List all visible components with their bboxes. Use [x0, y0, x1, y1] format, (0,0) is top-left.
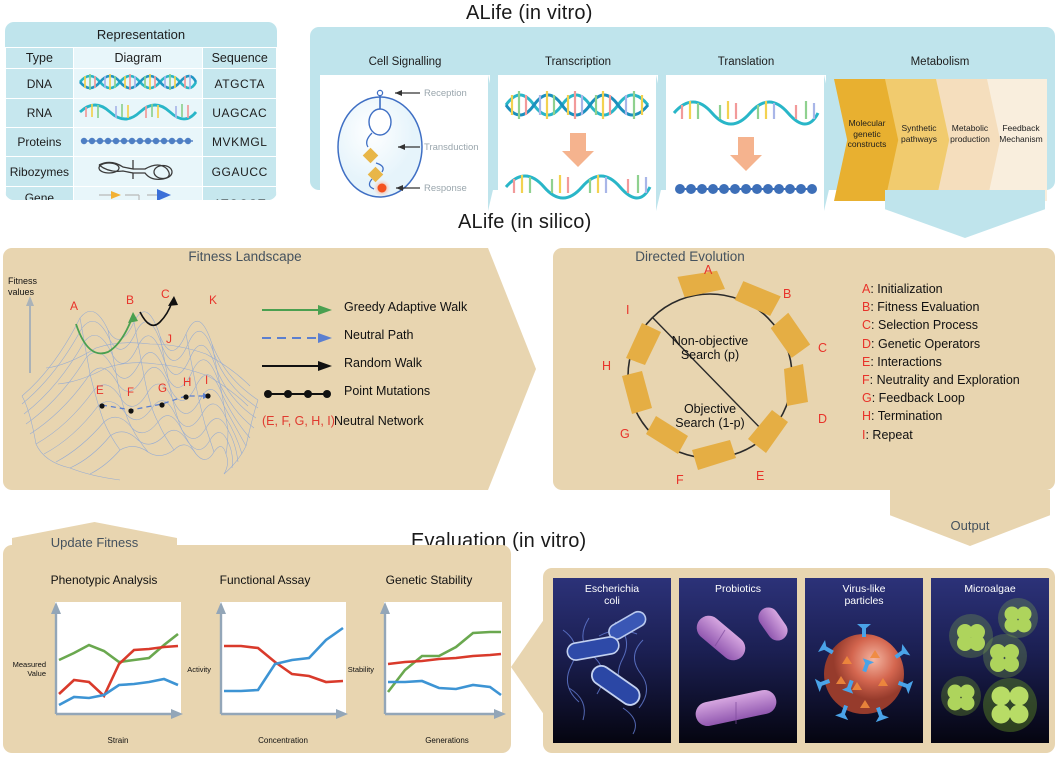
chart-xlabel-concentration: Concentration	[212, 736, 354, 745]
cell-type: Gene Circuits	[6, 187, 74, 201]
annotation-reception: Reception	[424, 88, 467, 99]
chart-genetic-stability	[376, 598, 518, 736]
representation-table: Type Diagram Sequence DNA	[5, 47, 277, 200]
network-label-E: E	[96, 385, 104, 397]
peak-label-B: B	[126, 293, 134, 307]
network-label-I: I	[205, 375, 208, 387]
output-label: Output	[890, 518, 1050, 533]
dna-double-helix-icon	[73, 69, 203, 99]
organism-panel-probiotics	[679, 578, 797, 743]
directed-evolution-wheel: A B C D E F G H I	[560, 258, 860, 490]
col-header-type: Type	[6, 48, 74, 69]
down-arrow-icon	[562, 133, 594, 167]
representation-card: Representation Type Diagram Sequence DNA	[5, 22, 277, 200]
alife-in-silico-title: ALife (in silico)	[458, 211, 591, 234]
ring-letter-H: H	[602, 359, 611, 373]
cell-sequence: GGAUCC	[203, 157, 277, 187]
ring-letter-C: C	[818, 341, 827, 355]
table-header-row: Type Diagram Sequence	[6, 48, 277, 69]
legend-item: B: Fitness Evaluation	[862, 300, 1020, 314]
stage-line1: Feedback	[1002, 123, 1039, 133]
legend-item-neutral-path: Neutral Path	[262, 328, 522, 356]
cell-type: RNA	[6, 99, 74, 128]
neutral-network-key: (E, F, G, H, I)	[262, 414, 335, 428]
organism-label-microalgae: Microalgae	[931, 583, 1049, 595]
cell-type: DNA	[6, 69, 74, 99]
network-label-F: F	[127, 387, 134, 399]
chart-xlabel-strain: Strain	[47, 736, 189, 745]
translation-diagram	[666, 75, 826, 211]
dotted-line-icon	[262, 387, 334, 401]
transcription-diagram	[498, 75, 658, 211]
representation-title: Representation	[5, 22, 277, 47]
alife-in-vitro-title: ALife (in vitro)	[466, 2, 593, 25]
arrow-solid-black-icon	[262, 360, 334, 372]
chart-ylabel-phenotypic: Measured Value	[2, 660, 46, 678]
legend-item: F: Neutrality and Exploration	[862, 373, 1020, 387]
ring-letter-G: G	[620, 427, 630, 441]
alife-in-vitro-card: Cell Signalling	[310, 27, 1055, 190]
legend-item-greedy-adaptive-walk: Greedy Adaptive Walk	[262, 300, 522, 328]
legend-item: G: Feedback Loop	[862, 391, 1020, 405]
legend-item: A: Initialization	[862, 282, 1020, 296]
panel-label-cell-signalling: Cell Signalling	[320, 56, 490, 68]
stage-line2: pathways	[901, 134, 937, 144]
table-row: DNA	[6, 69, 277, 99]
legend-label: Neutral Network	[334, 414, 424, 428]
stage-line2: production	[950, 134, 990, 144]
legend-label: Greedy Adaptive Walk	[344, 300, 467, 314]
stage-line3: constructs	[848, 139, 887, 149]
arrow-dashed-blue-icon	[262, 332, 334, 344]
table-row: Ribozymes GGAUCC	[6, 157, 277, 187]
table-row: RNA	[6, 99, 277, 128]
network-label-G: G	[158, 383, 167, 395]
legend-item-point-mutations: Point Mutations	[262, 384, 522, 412]
circle-label-objective: Objective Search (1-p)	[640, 402, 780, 430]
peak-label-J: J	[166, 332, 172, 346]
chart-ylabel-activity: Activity	[167, 665, 211, 674]
ring-letter-E: E	[756, 469, 764, 483]
peak-label-A: A	[70, 299, 78, 313]
legend-label: Neutral Path	[344, 328, 413, 342]
legend-label: Random Walk	[344, 356, 422, 370]
legend-item: C: Selection Process	[862, 318, 1020, 332]
panel-label-metabolism: Metabolism	[834, 56, 1046, 68]
stage-line1: Metabolic	[952, 123, 988, 133]
stage-line2: Mechanism	[999, 134, 1042, 144]
legend-item: D: Genetic Operators	[862, 337, 1020, 351]
ring-letter-I: I	[626, 303, 629, 317]
ring-letter-F: F	[676, 473, 684, 487]
legend-item: I: Repeat	[862, 428, 1020, 442]
table-row: Proteins MVKMGL	[6, 128, 277, 157]
panel-label-translation: Translation	[666, 56, 826, 68]
cell-signalling-diagram: Reception Transduction Response	[320, 75, 490, 211]
directed-evolution-legend: A: Initialization B: Fitness Evaluation …	[862, 282, 1020, 446]
rna-single-strand-icon	[73, 99, 203, 128]
organism-panel-microalgae	[931, 578, 1049, 743]
annotation-response: Response	[424, 183, 467, 194]
annotation-transduction: Transduction	[424, 142, 479, 153]
down-arrow-icon	[730, 137, 762, 171]
gene-circuit-icon	[73, 187, 203, 201]
chart-title-functional-assay: Functional Assay	[190, 573, 340, 587]
legend-item: H: Termination	[862, 409, 1020, 423]
cell-sequence: ATGCTA	[203, 69, 277, 99]
stage-line2: genetic	[853, 129, 880, 139]
update-fitness-label: Update Fitness	[12, 535, 177, 550]
col-header-sequence: Sequence	[203, 48, 277, 69]
fitness-landscape-plot: A B C K J E F G H I	[10, 248, 270, 488]
ring-letter-D: D	[818, 412, 827, 426]
chart-ylabel-stability: Stability	[332, 665, 374, 674]
circle-label-non-objective: Non-objective Search (p)	[640, 334, 780, 362]
peak-label-K: K	[209, 293, 217, 307]
ribozyme-loop-icon	[73, 157, 203, 187]
col-header-diagram: Diagram	[73, 48, 203, 69]
legend-item: E: Interactions	[862, 355, 1020, 369]
protein-bead-chain-icon	[73, 128, 203, 157]
legend-label: Point Mutations	[344, 384, 430, 398]
table-row: Gene Circuits ATGCGT	[6, 187, 277, 201]
chart-title-genetic-stability: Genetic Stability	[353, 573, 505, 587]
cell-sequence: MVKMGL	[203, 128, 277, 157]
stage-line1: Synthetic	[902, 123, 937, 133]
fitness-legend: Greedy Adaptive Walk Neutral Path Random…	[262, 300, 522, 438]
stage-line1: Molecular	[849, 118, 886, 128]
cell-type: Proteins	[6, 128, 74, 157]
arrow-solid-green-icon	[262, 304, 334, 316]
organism-label-probiotics: Probiotics	[679, 583, 797, 595]
ring-letter-A: A	[704, 263, 713, 277]
panel-label-transcription: Transcription	[498, 56, 658, 68]
organism-label-virus: Virus-like particles	[805, 583, 923, 607]
network-label-H: H	[183, 377, 191, 389]
cell-sequence: UAGCAC	[203, 99, 277, 128]
flow-arrow-vitro-to-silico	[885, 190, 1045, 238]
organism-label-ecoli: Escherichia coli	[553, 583, 671, 607]
chart-xlabel-generations: Generations	[376, 736, 518, 745]
cell-sequence: ATGCGT	[203, 187, 277, 201]
ring-letter-B: B	[783, 287, 791, 301]
legend-item-neutral-network: (E, F, G, H, I) Neutral Network	[262, 412, 522, 438]
peak-label-C: C	[161, 287, 170, 301]
cell-type: Ribozymes	[6, 157, 74, 187]
chart-title-phenotypic-analysis: Phenotypic Analysis	[24, 573, 184, 587]
legend-item-random-walk: Random Walk	[262, 356, 522, 384]
